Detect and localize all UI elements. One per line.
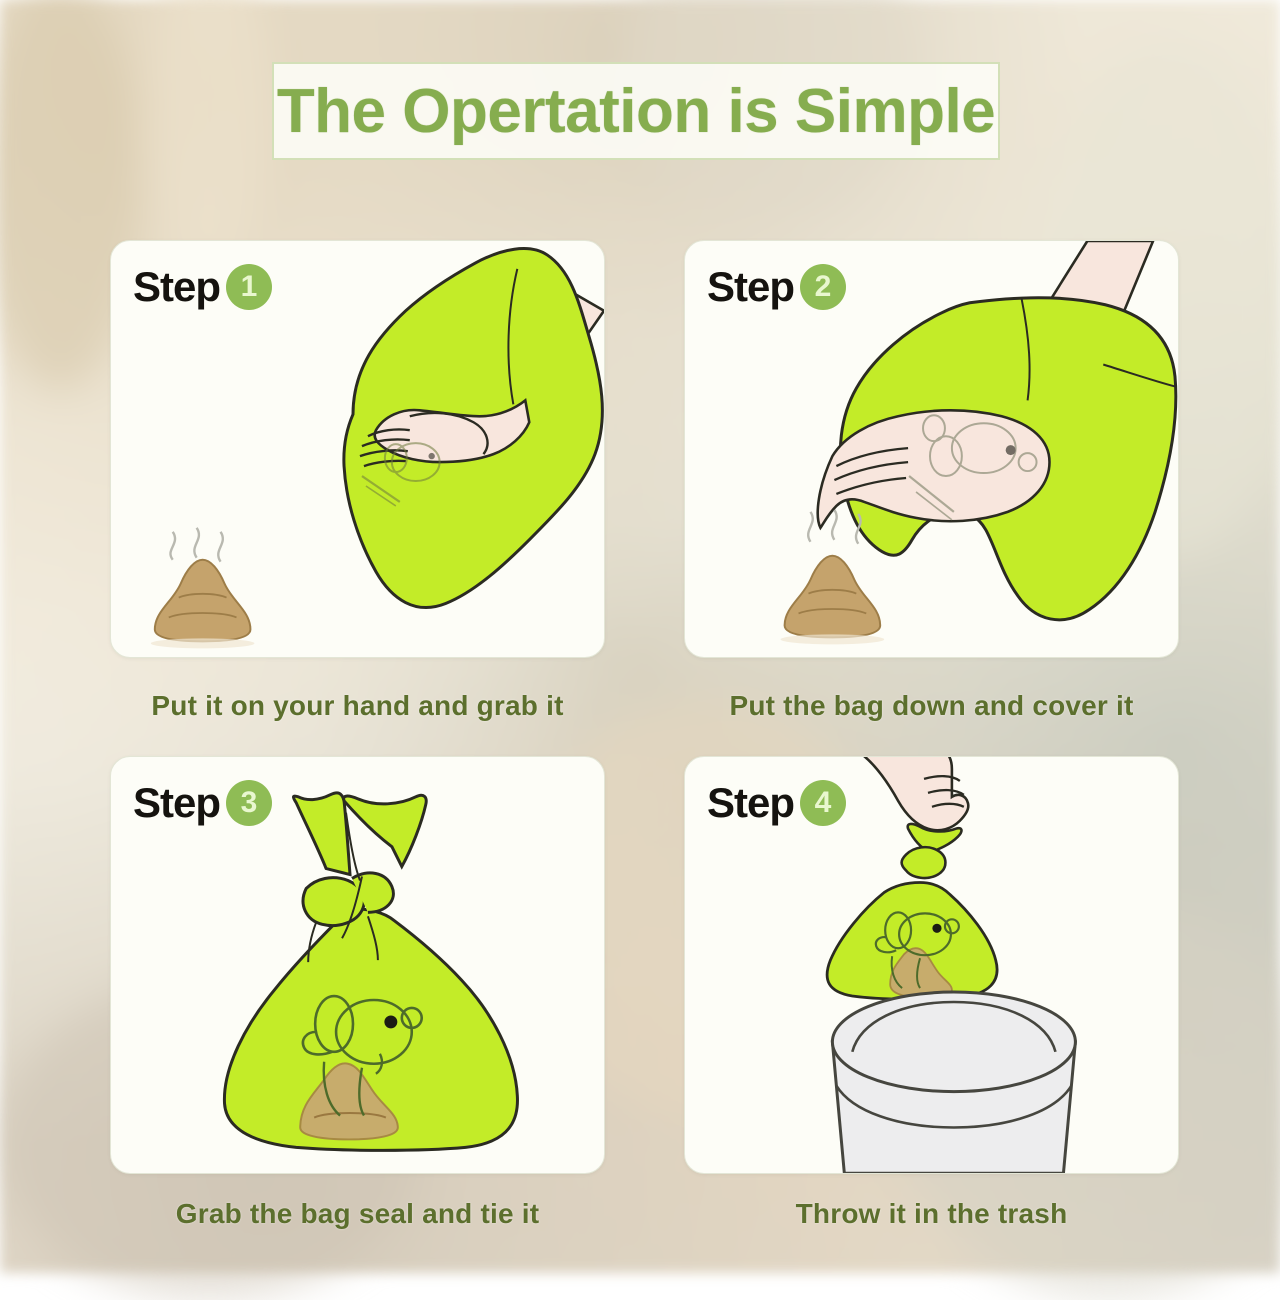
step-card-1: Step 1 <box>110 240 605 658</box>
step-word-3: Step <box>133 779 220 827</box>
step-card-2: Step 2 <box>684 240 1179 658</box>
step-word-1: Step <box>133 263 220 311</box>
page-title: The Opertation is Simple <box>277 76 995 147</box>
step-caption-2: Put the bag down and cover it <box>684 690 1179 722</box>
step-caption-1: Put it on your hand and grab it <box>110 690 605 722</box>
step-card-4: Step 4 <box>684 756 1179 1174</box>
step-caption-3: Grab the bag seal and tie it <box>110 1198 605 1230</box>
step-number-badge-1: 1 <box>226 264 272 310</box>
step-word-2: Step <box>707 263 794 311</box>
tied-bag-4 <box>827 824 997 999</box>
step-number-badge-2: 2 <box>800 264 846 310</box>
step-label-3: Step 3 <box>133 779 272 827</box>
step-label-4: Step 4 <box>707 779 846 827</box>
trash-can-4 <box>832 992 1075 1173</box>
step-number-badge-4: 4 <box>800 780 846 826</box>
step-caption-4: Throw it in the trash <box>684 1198 1179 1230</box>
page-title-box: The Opertation is Simple <box>272 62 1000 160</box>
step-label-1: Step 1 <box>133 263 272 311</box>
step-word-4: Step <box>707 779 794 827</box>
step-number-badge-3: 3 <box>226 780 272 826</box>
step-card-3: Step 3 <box>110 756 605 1174</box>
poop-pile-1 <box>151 528 255 649</box>
hand-4 <box>860 757 968 830</box>
step-label-2: Step 2 <box>707 263 846 311</box>
